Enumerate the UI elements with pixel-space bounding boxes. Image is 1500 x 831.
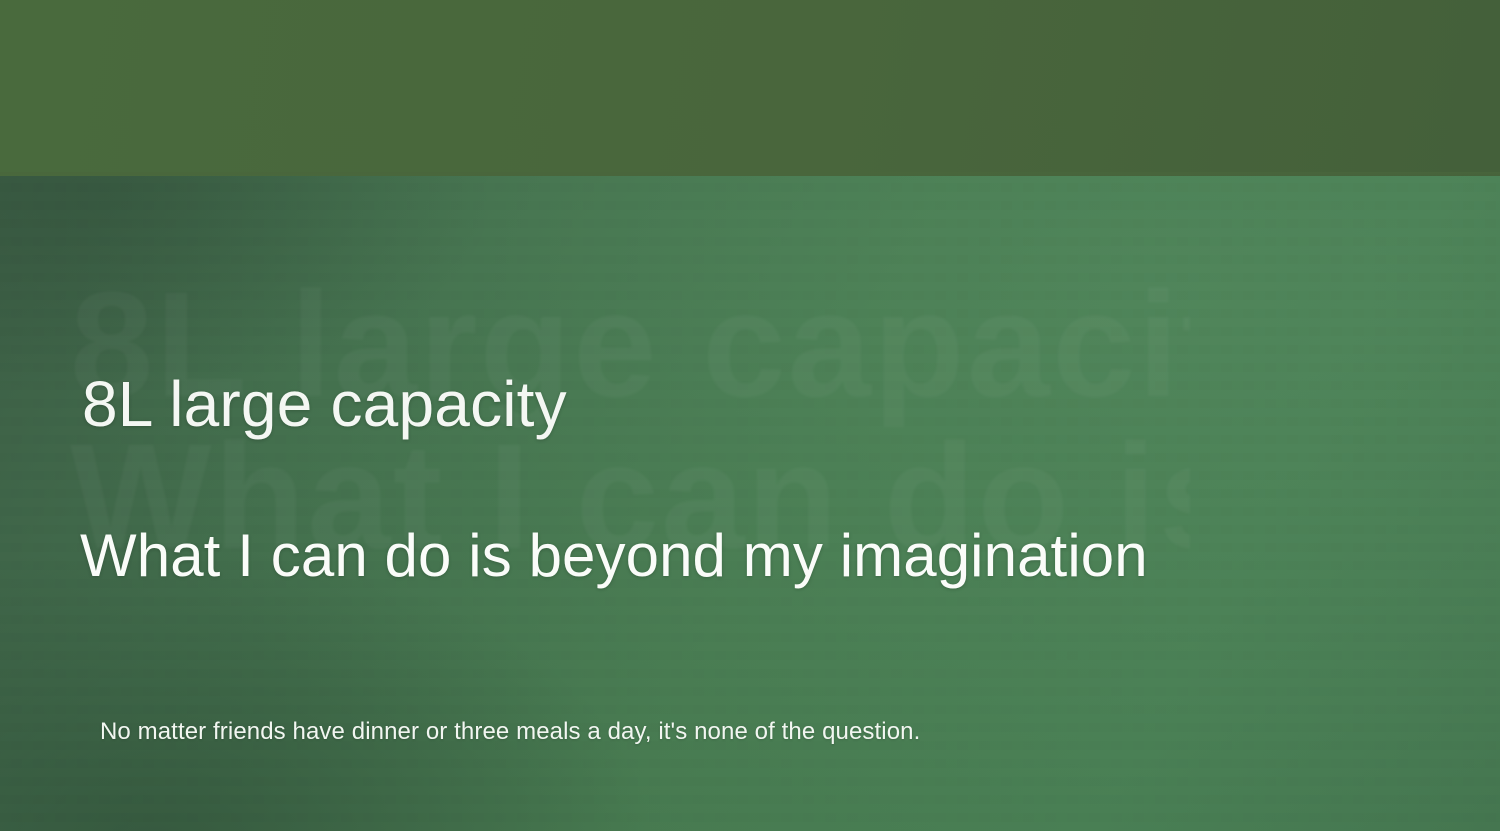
product-banner-slide: 8L large capacity What I can do is 8L la… xyxy=(0,0,1500,831)
top-color-band xyxy=(0,0,1500,176)
page-caption: No matter friends have dinner or three m… xyxy=(100,716,920,748)
page-title: 8L large capacity xyxy=(82,366,567,442)
vignette-top-left xyxy=(0,176,780,517)
page-subtitle: What I can do is beyond my imagination xyxy=(80,520,1148,592)
